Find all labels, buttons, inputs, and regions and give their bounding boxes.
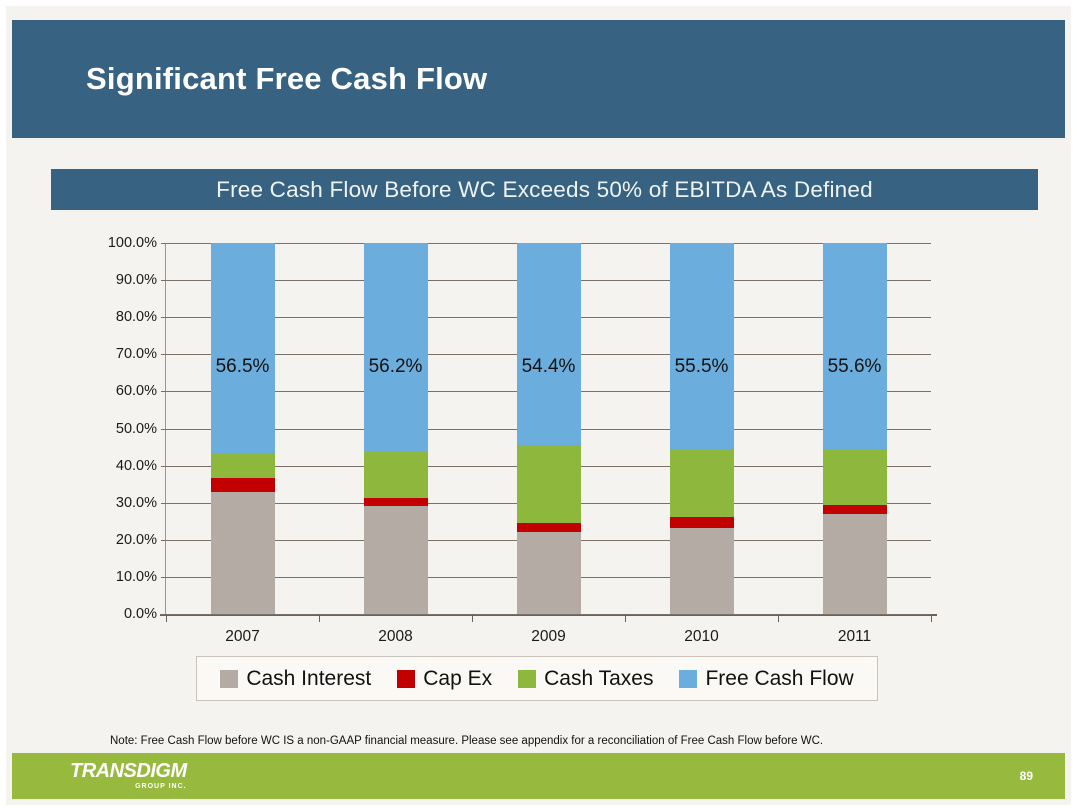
bar-segment-free-cash-flow xyxy=(670,243,734,449)
y-axis-label: 70.0% xyxy=(116,346,157,362)
bar-segment-cash-taxes xyxy=(823,449,887,504)
stacked-bar-chart: 100.0%90.0%80.0%70.0%60.0%50.0%40.0%30.0… xyxy=(6,221,1077,651)
y-axis-label: 60.0% xyxy=(116,383,157,399)
legend-swatch-icon xyxy=(397,670,415,688)
x-axis-tick xyxy=(472,614,473,622)
y-axis-label: 30.0% xyxy=(116,495,157,511)
legend-label: Cash Interest xyxy=(246,667,371,691)
legend-item-cash-interest[interactable]: Cash Interest xyxy=(220,667,371,691)
x-axis-tick xyxy=(625,614,626,622)
y-axis-label: 10.0% xyxy=(116,569,157,585)
x-axis-tick xyxy=(931,614,932,622)
legend-swatch-icon xyxy=(679,670,697,688)
legend-label: Cash Taxes xyxy=(544,667,653,691)
y-axis-tick xyxy=(161,466,166,467)
y-axis-label: 40.0% xyxy=(116,458,157,474)
bar-value-label: 56.2% xyxy=(369,356,423,378)
bar-2009: 54.4% xyxy=(517,243,581,614)
chart-plot-area: 100.0%90.0%80.0%70.0%60.0%50.0%40.0%30.0… xyxy=(166,243,931,614)
y-axis-label: 20.0% xyxy=(116,532,157,548)
slide-footer-band: TRANSDIGM GROUP INC. 89 xyxy=(12,753,1065,799)
bar-value-label: 55.6% xyxy=(828,356,882,378)
legend-label: Free Cash Flow xyxy=(705,667,853,691)
bar-2010: 55.5% xyxy=(670,243,734,614)
x-axis-label-2009: 2009 xyxy=(531,628,565,646)
y-axis-label: 100.0% xyxy=(108,235,157,251)
y-axis-tick xyxy=(161,354,166,355)
x-axis-tick xyxy=(778,614,779,622)
bar-segment-cash-interest xyxy=(364,506,428,614)
y-axis-tick xyxy=(161,540,166,541)
bar-segment-cash-taxes xyxy=(364,452,428,498)
bar-2011: 55.6% xyxy=(823,243,887,614)
subtitle-banner: Free Cash Flow Before WC Exceeds 50% of … xyxy=(51,169,1038,210)
logo-subtext: GROUP INC. xyxy=(70,783,187,790)
bar-segment-cap-ex xyxy=(364,498,428,506)
bar-value-label: 55.5% xyxy=(675,356,729,378)
legend-label: Cap Ex xyxy=(423,667,492,691)
y-axis-tick xyxy=(161,280,166,281)
y-axis-label: 50.0% xyxy=(116,421,157,437)
y-axis-tick xyxy=(161,503,166,504)
y-axis-tick xyxy=(161,317,166,318)
bar-segment-cap-ex xyxy=(823,505,887,514)
x-axis-tick xyxy=(166,614,167,622)
page-number: 89 xyxy=(1020,769,1033,783)
x-axis-label-2011: 2011 xyxy=(838,628,871,646)
page-title: Significant Free Cash Flow xyxy=(86,61,487,97)
y-axis-tick xyxy=(161,391,166,392)
bar-segment-cash-interest xyxy=(823,514,887,614)
bar-segment-cash-taxes xyxy=(211,453,275,479)
bar-segment-cap-ex xyxy=(211,478,275,491)
bar-segment-cash-interest xyxy=(211,492,275,614)
x-axis-label-2007: 2007 xyxy=(225,628,259,646)
bar-segment-cash-interest xyxy=(670,528,734,614)
legend-swatch-icon xyxy=(518,670,536,688)
y-axis-tick xyxy=(161,577,166,578)
transdigm-logo: TRANSDIGM GROUP INC. xyxy=(70,761,187,790)
gridline xyxy=(166,614,931,615)
bar-value-label: 54.4% xyxy=(522,356,576,378)
bar-value-label: 56.5% xyxy=(216,356,270,378)
legend-item-cap-ex[interactable]: Cap Ex xyxy=(397,667,492,691)
bar-segment-free-cash-flow xyxy=(364,243,428,452)
y-axis-label: 80.0% xyxy=(116,309,157,325)
y-axis-tick xyxy=(161,429,166,430)
logo-wordmark: TRANSDIGM xyxy=(70,761,187,781)
bar-segment-cap-ex xyxy=(517,523,581,532)
x-axis-label-2010: 2010 xyxy=(684,628,718,646)
y-axis-label: 0.0% xyxy=(124,606,157,622)
legend-item-free-cash-flow[interactable]: Free Cash Flow xyxy=(679,667,853,691)
bar-segment-cap-ex xyxy=(670,517,734,528)
presentation-slide: Significant Free Cash Flow Free Cash Flo… xyxy=(0,0,1077,811)
y-axis-tick xyxy=(161,243,166,244)
chart-legend: Cash InterestCap ExCash TaxesFree Cash F… xyxy=(196,656,878,701)
legend-item-cash-taxes[interactable]: Cash Taxes xyxy=(518,667,653,691)
x-axis-label-2008: 2008 xyxy=(378,628,412,646)
bar-segment-free-cash-flow xyxy=(517,243,581,445)
y-axis-label: 90.0% xyxy=(116,272,157,288)
bar-segment-free-cash-flow xyxy=(211,243,275,453)
bar-segment-cash-taxes xyxy=(670,449,734,517)
x-axis-tick xyxy=(319,614,320,622)
bar-2007: 56.5% xyxy=(211,243,275,614)
subtitle-text: Free Cash Flow Before WC Exceeds 50% of … xyxy=(216,177,873,203)
bar-2008: 56.2% xyxy=(364,243,428,614)
legend-swatch-icon xyxy=(220,670,238,688)
bar-segment-cash-taxes xyxy=(517,445,581,523)
bar-segment-free-cash-flow xyxy=(823,243,887,449)
footnote-text: Note: Free Cash Flow before WC IS a non-… xyxy=(110,735,823,747)
slide-header-band: Significant Free Cash Flow xyxy=(12,20,1065,138)
bar-segment-cash-interest xyxy=(517,532,581,614)
